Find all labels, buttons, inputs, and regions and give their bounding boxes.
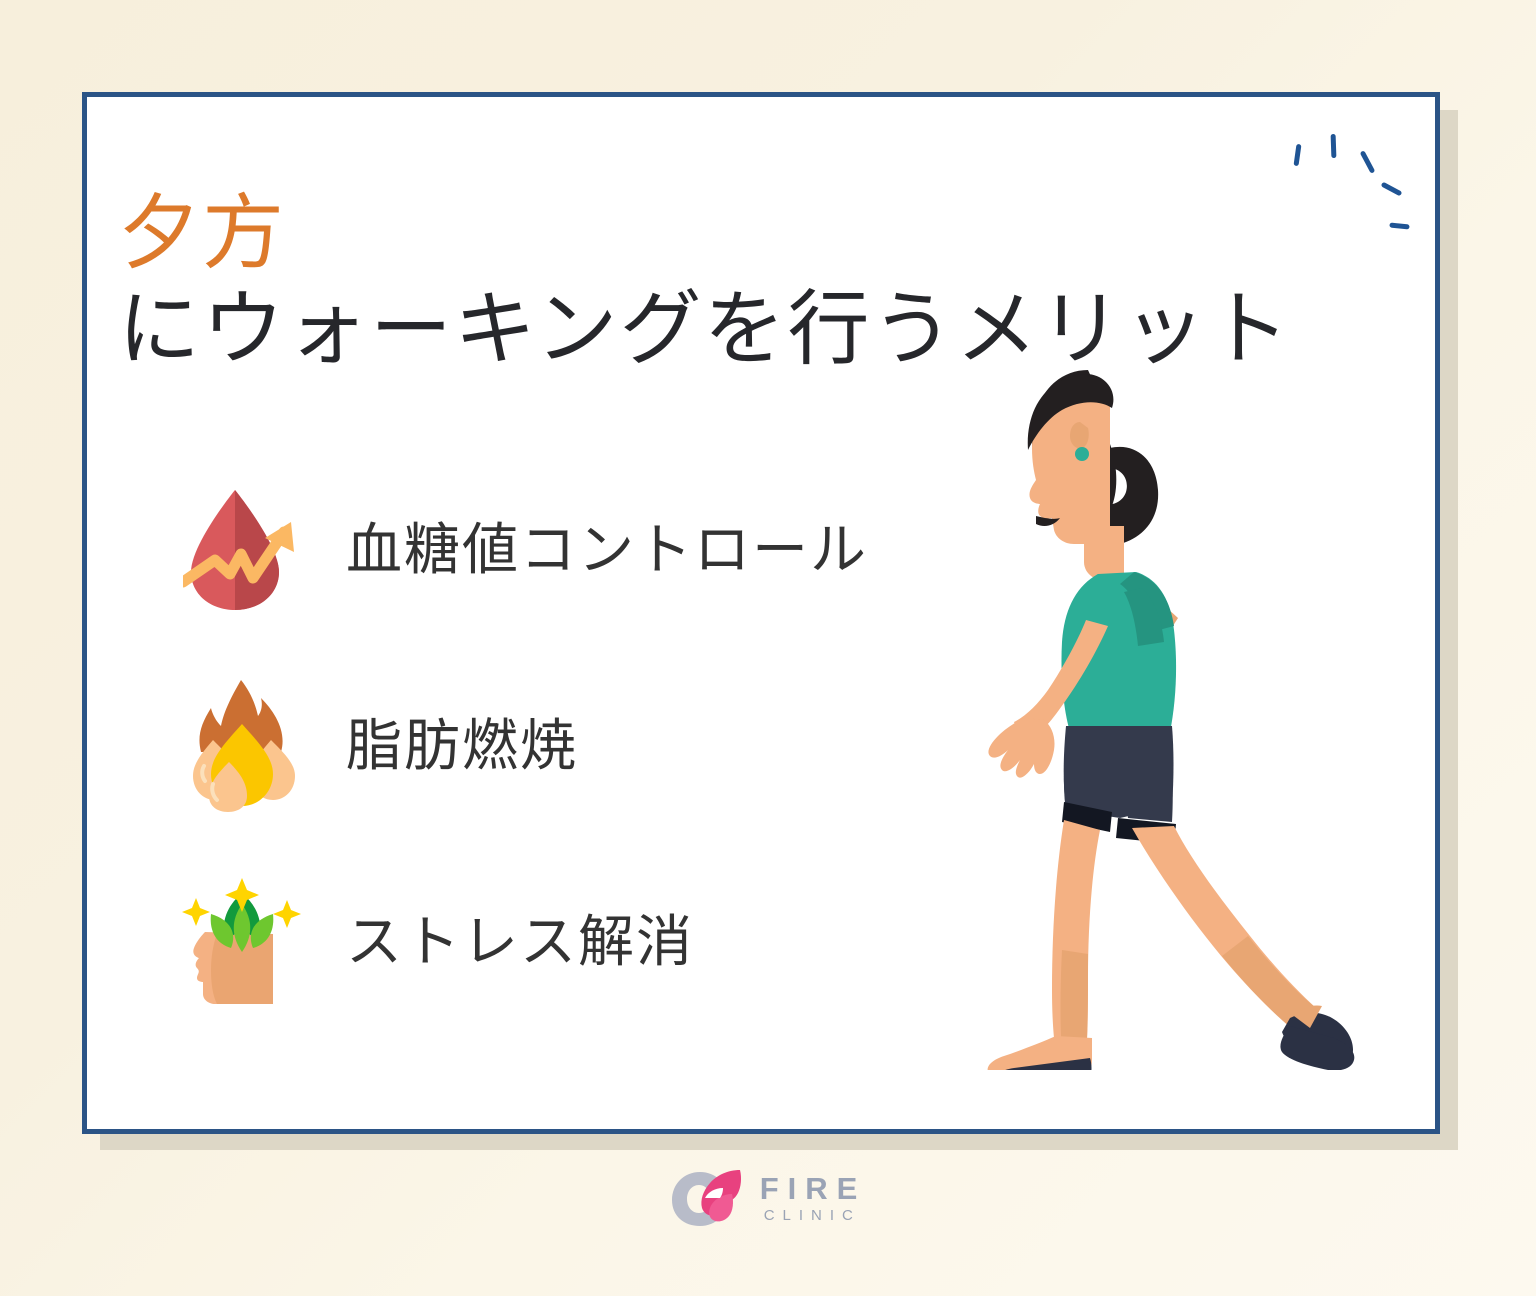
- head-leaves-sparkle-icon: [178, 875, 306, 1010]
- benefit-label: ストレス解消: [346, 912, 694, 972]
- walking-woman-illustration: [960, 330, 1420, 1070]
- fire-clinic-logo-icon: [670, 1168, 744, 1228]
- page-title: 夕方にウォーキングを行うメリット: [118, 186, 1418, 296]
- flame-icon: [178, 679, 306, 814]
- benefit-label: 脂肪燃焼: [346, 716, 578, 776]
- list-item: 血糖値コントロール: [178, 452, 938, 648]
- logo-name: FIRE: [760, 1173, 867, 1204]
- list-item: ストレス解消: [178, 844, 938, 1040]
- logo-text-block: FIRE CLINIC: [760, 1173, 867, 1223]
- list-item: 脂肪燃焼: [178, 648, 938, 844]
- title-accent-text: 夕方: [118, 188, 286, 279]
- blood-drop-trend-icon: [178, 483, 306, 618]
- brand-logo: FIRE CLINIC: [0, 1168, 1536, 1228]
- poster-canvas: 夕方にウォーキングを行うメリット 血糖値コントロール: [0, 0, 1536, 1296]
- logo-subtitle: CLINIC: [760, 1208, 867, 1223]
- benefit-label: 血糖値コントロール: [346, 520, 868, 580]
- benefits-list: 血糖値コントロール 脂肪燃焼: [178, 452, 938, 1040]
